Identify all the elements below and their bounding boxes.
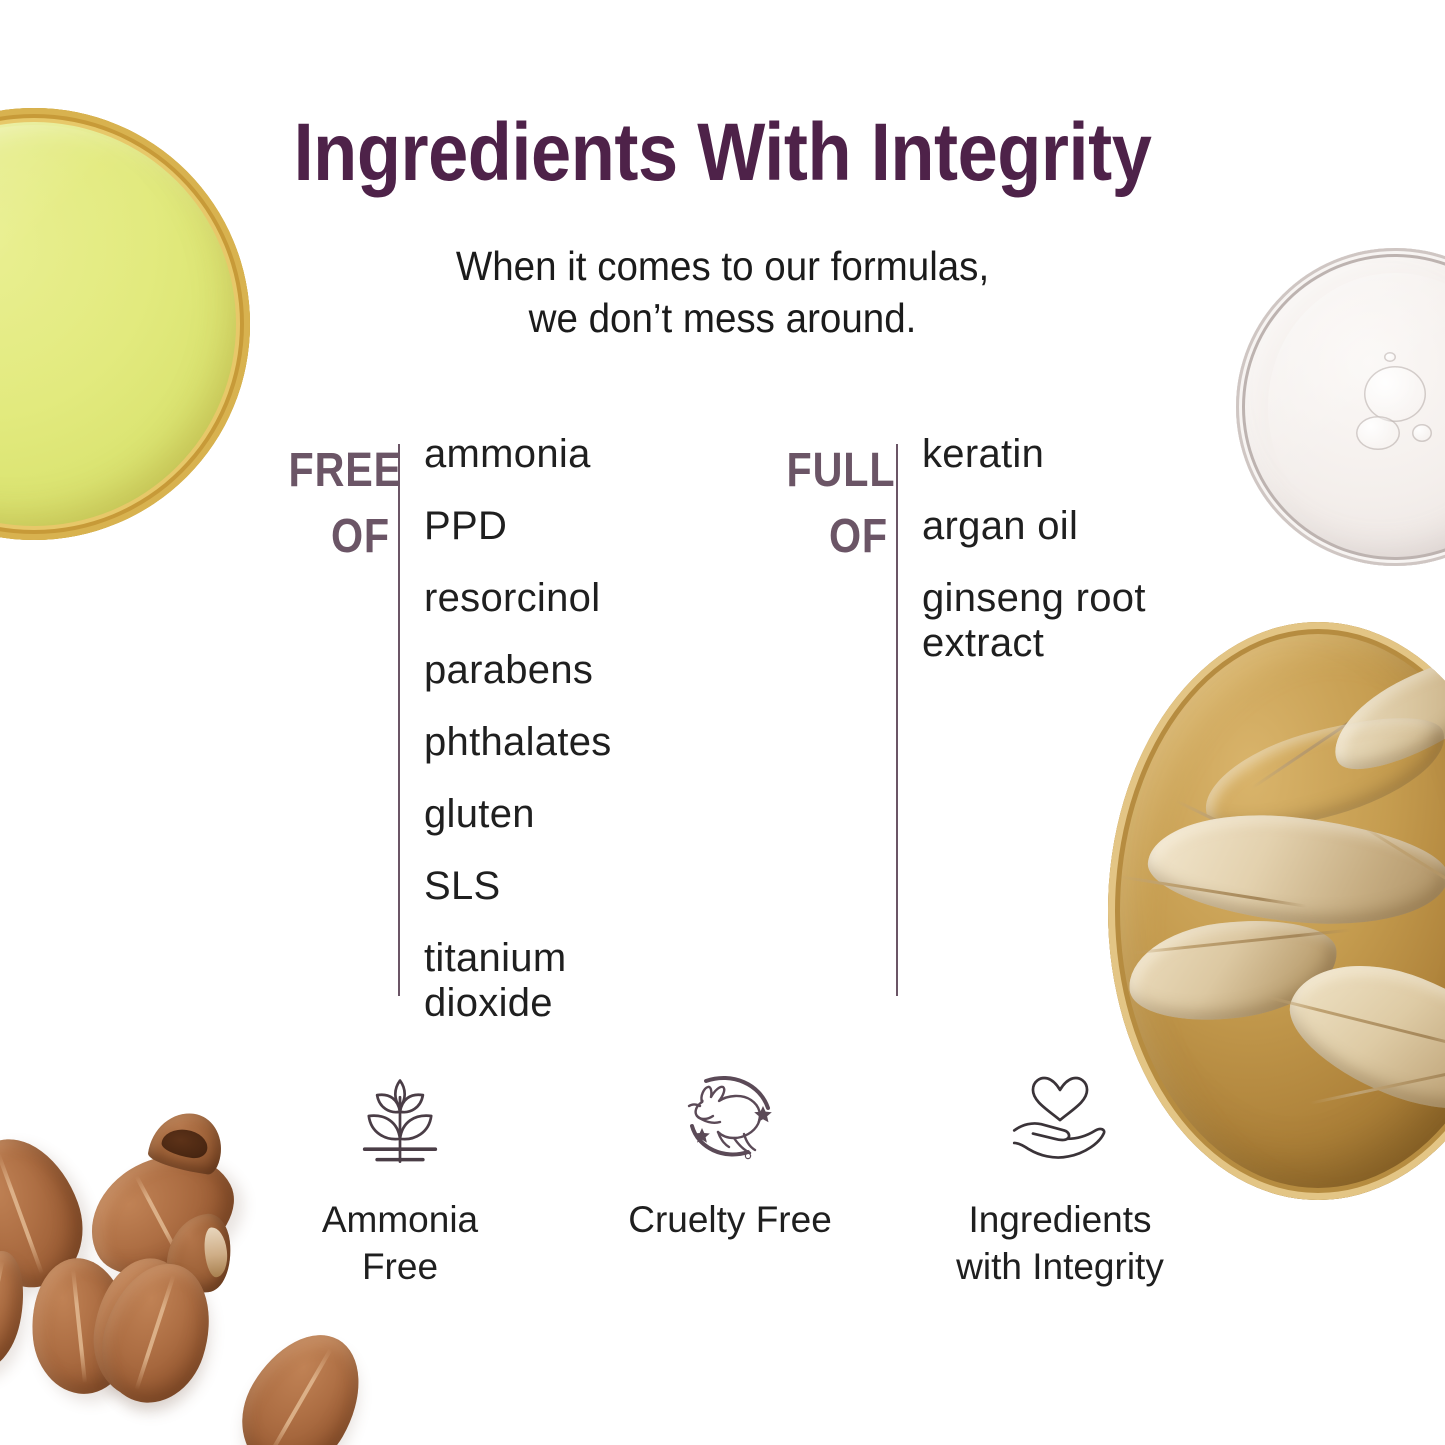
heart-in-hand-icon [1004, 1062, 1116, 1174]
page-title: Ingredients With Integrity [87, 106, 1359, 200]
badge-label: Cruelty Free [628, 1196, 832, 1243]
subtitle-line-2: we don’t mess around. [43, 292, 1401, 344]
list-item: phthalates [424, 720, 612, 792]
badge-ingredients-with-integrity: Ingredients with Integrity [910, 1062, 1210, 1290]
free-of-divider-line [398, 444, 400, 996]
list-item: ginseng root extract [922, 576, 1222, 648]
leaping-bunny-icon [674, 1062, 786, 1174]
list-item: gluten [424, 792, 612, 864]
plant-sprout-icon [344, 1062, 456, 1174]
badge-label: Ingredients with Integrity [956, 1196, 1164, 1290]
free-of-label-line-2: OF [289, 504, 390, 570]
full-of-list: keratin argan oil ginseng root extract [922, 432, 1222, 648]
badge-label: Ammonia Free [322, 1196, 478, 1290]
ingredients-with-integrity-panel: Ingredients With Integrity When it comes… [0, 0, 1445, 1445]
full-of-divider-line [896, 444, 898, 996]
free-of-label-line-1: FREE [289, 444, 403, 497]
certification-badges: Ammonia Free [250, 1062, 1210, 1290]
gel-bubble [1356, 416, 1400, 450]
list-item: parabens [424, 648, 612, 720]
badge-ammonia-free: Ammonia Free [250, 1062, 550, 1290]
full-of-label: FULL OF [787, 438, 888, 570]
badge-cruelty-free: Cruelty Free [580, 1062, 880, 1290]
list-item: argan oil [922, 504, 1222, 576]
list-item: PPD [424, 504, 612, 576]
argan-nut-photo [220, 1314, 383, 1445]
subtitle-line-1: When it comes to our formulas, [43, 240, 1401, 292]
gel-bubble [1384, 352, 1396, 362]
list-item: SLS [424, 864, 612, 936]
gel-bubble [1364, 366, 1426, 422]
list-item: titanium dioxide [424, 936, 612, 1008]
list-item: ammonia [424, 432, 612, 504]
list-item: resorcinol [424, 576, 612, 648]
full-of-label-line-1: FULL [787, 444, 896, 497]
page-subtitle: When it comes to our formulas, we don’t … [43, 240, 1401, 344]
gel-bubble [1412, 424, 1432, 442]
free-of-list: ammonia PPD resorcinol parabens phthalat… [424, 432, 612, 1008]
ginseng-root [1143, 803, 1445, 938]
list-item: keratin [922, 432, 1222, 504]
full-of-label-line-2: OF [787, 504, 888, 570]
free-of-label: FREE OF [289, 438, 390, 570]
